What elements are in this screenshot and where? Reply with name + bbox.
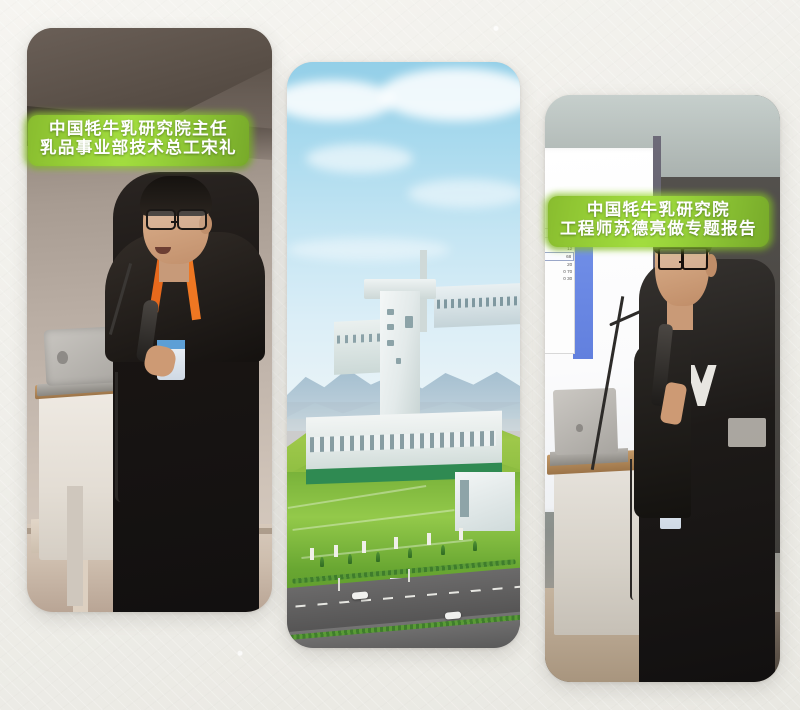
- laptop-logo-icon: [576, 424, 583, 432]
- caption-line-1: 中国牦牛乳研究院主任: [40, 120, 237, 139]
- car: [352, 591, 369, 599]
- fence-post: [334, 545, 338, 557]
- panel-2-scene: [287, 62, 520, 648]
- caption-ribbon-speaker-song-li: 中国牦牛乳研究院主任 乳品事业部技术总工宋礼: [28, 115, 249, 166]
- caption-line-2: 乳品事业部技术总工宋礼: [40, 139, 237, 158]
- fence-post: [459, 528, 463, 540]
- factory-building-right: [434, 283, 520, 328]
- fence-post: [394, 537, 398, 549]
- glasses-lens-right: [682, 247, 707, 270]
- panel-3-scene: 人凡(3) 0 40 12 68 20 0 70 0 30: [545, 95, 780, 682]
- glasses-bridge: [171, 221, 179, 223]
- tree: [441, 545, 445, 555]
- caption-line-2: 工程师苏德亮做专题报告: [560, 220, 757, 239]
- fence-post: [362, 541, 366, 553]
- microphone-cable: [630, 459, 634, 600]
- factory-annex-building: [455, 472, 516, 531]
- fence-post: [310, 548, 314, 560]
- tree: [320, 557, 324, 567]
- poster-canvas: 中国牦牛乳研究院主任 乳品事业部技术总工宋礼: [0, 0, 800, 710]
- tree: [408, 548, 412, 558]
- table-row: 68: [545, 252, 574, 261]
- podium-post: [67, 486, 83, 606]
- microphone-cable: [115, 372, 121, 502]
- street-lamp: [338, 578, 340, 591]
- photo-panel-aerial-factory[interactable]: [287, 62, 520, 648]
- fence-post: [427, 533, 431, 545]
- glasses-lens-left: [146, 209, 176, 230]
- street-lamp: [408, 569, 410, 582]
- tree: [473, 541, 477, 551]
- tree: [376, 552, 380, 562]
- glasses-bridge: [679, 261, 684, 263]
- cloud: [380, 68, 520, 121]
- factory-tower: [380, 291, 420, 420]
- laptop-logo-icon: [57, 351, 69, 365]
- table-row: 20: [545, 261, 574, 268]
- jacket-sleeve-stripe: [728, 418, 766, 447]
- caption-ribbon-speaker-su-deliang: 中国牦牛乳研究院 工程师苏德亮做专题报告: [548, 196, 769, 247]
- photo-panel-speaker-su-deliang[interactable]: 人凡(3) 0 40 12 68 20 0 70 0 30: [545, 95, 780, 682]
- cloud: [306, 144, 413, 173]
- caption-line-1: 中国牦牛乳研究院: [560, 201, 757, 220]
- tree: [348, 554, 352, 564]
- glasses-lens-right: [177, 209, 207, 230]
- glasses-lens-left: [658, 247, 683, 270]
- table-row: 0 30: [545, 275, 574, 282]
- car: [445, 611, 462, 619]
- laptop-screen: [553, 387, 619, 454]
- table-row: 0 70: [545, 268, 574, 275]
